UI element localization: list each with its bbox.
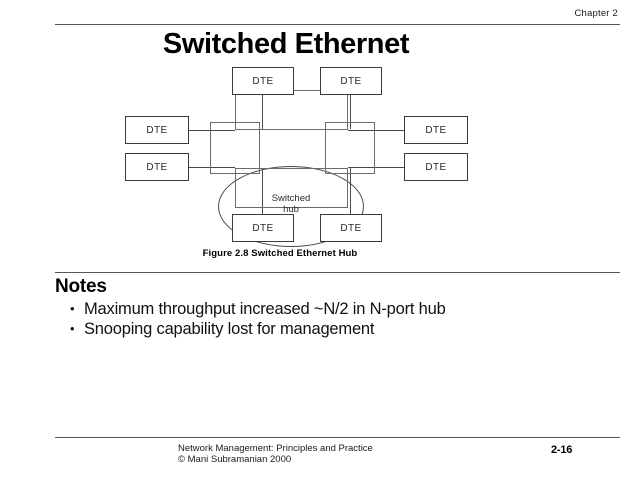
notes-item-text: Maximum throughput increased ~N/2 in N-p…: [84, 300, 446, 318]
notes-list: •Maximum throughput increased ~N/2 in N-…: [70, 299, 446, 339]
port-block-right: [325, 122, 375, 174]
dte-node-left-upper: DTE: [125, 116, 189, 144]
dte-node-top-right: DTE: [320, 67, 382, 95]
notes-divider: [55, 272, 620, 273]
bullet-icon: •: [70, 319, 84, 338]
dte-node-bottom-right: DTE: [320, 214, 382, 242]
notes-item-text: Snooping capability lost for management: [84, 320, 374, 338]
notes-list-item: •Snooping capability lost for management: [70, 319, 446, 339]
page-title: Switched Ethernet: [0, 28, 572, 61]
switched-hub-label: Switched hub: [218, 193, 364, 215]
port-block-left: [210, 122, 260, 174]
footer-copyright: © Mani Subramanian 2000: [178, 455, 373, 466]
notes-list-item: •Maximum throughput increased ~N/2 in N-…: [70, 299, 446, 319]
dte-node-left-lower: DTE: [125, 153, 189, 181]
figure-caption: Figure 2.8 Switched Ethernet Hub: [0, 248, 560, 259]
dte-node-right-upper: DTE: [404, 116, 468, 144]
footer-attribution: Network Management: Principles and Pract…: [178, 444, 373, 465]
switched-hub-label-line1: Switched: [218, 193, 364, 204]
switched-ethernet-diagram: Switched hub DTE DTE DTE DTE DTE DTE DTE…: [0, 62, 640, 247]
bullet-icon: •: [70, 299, 84, 318]
dte-node-right-lower: DTE: [404, 153, 468, 181]
header-divider: [55, 24, 620, 25]
switched-hub-label-line2: hub: [218, 204, 364, 215]
footer-book-title: Network Management: Principles and Pract…: [178, 444, 373, 455]
chapter-label: Chapter 2: [574, 8, 618, 19]
footer-divider: [55, 437, 620, 438]
dte-node-top-left: DTE: [232, 67, 294, 95]
dte-node-bottom-left: DTE: [232, 214, 294, 242]
page-number: 2-16: [551, 444, 572, 456]
notes-heading: Notes: [55, 276, 107, 298]
